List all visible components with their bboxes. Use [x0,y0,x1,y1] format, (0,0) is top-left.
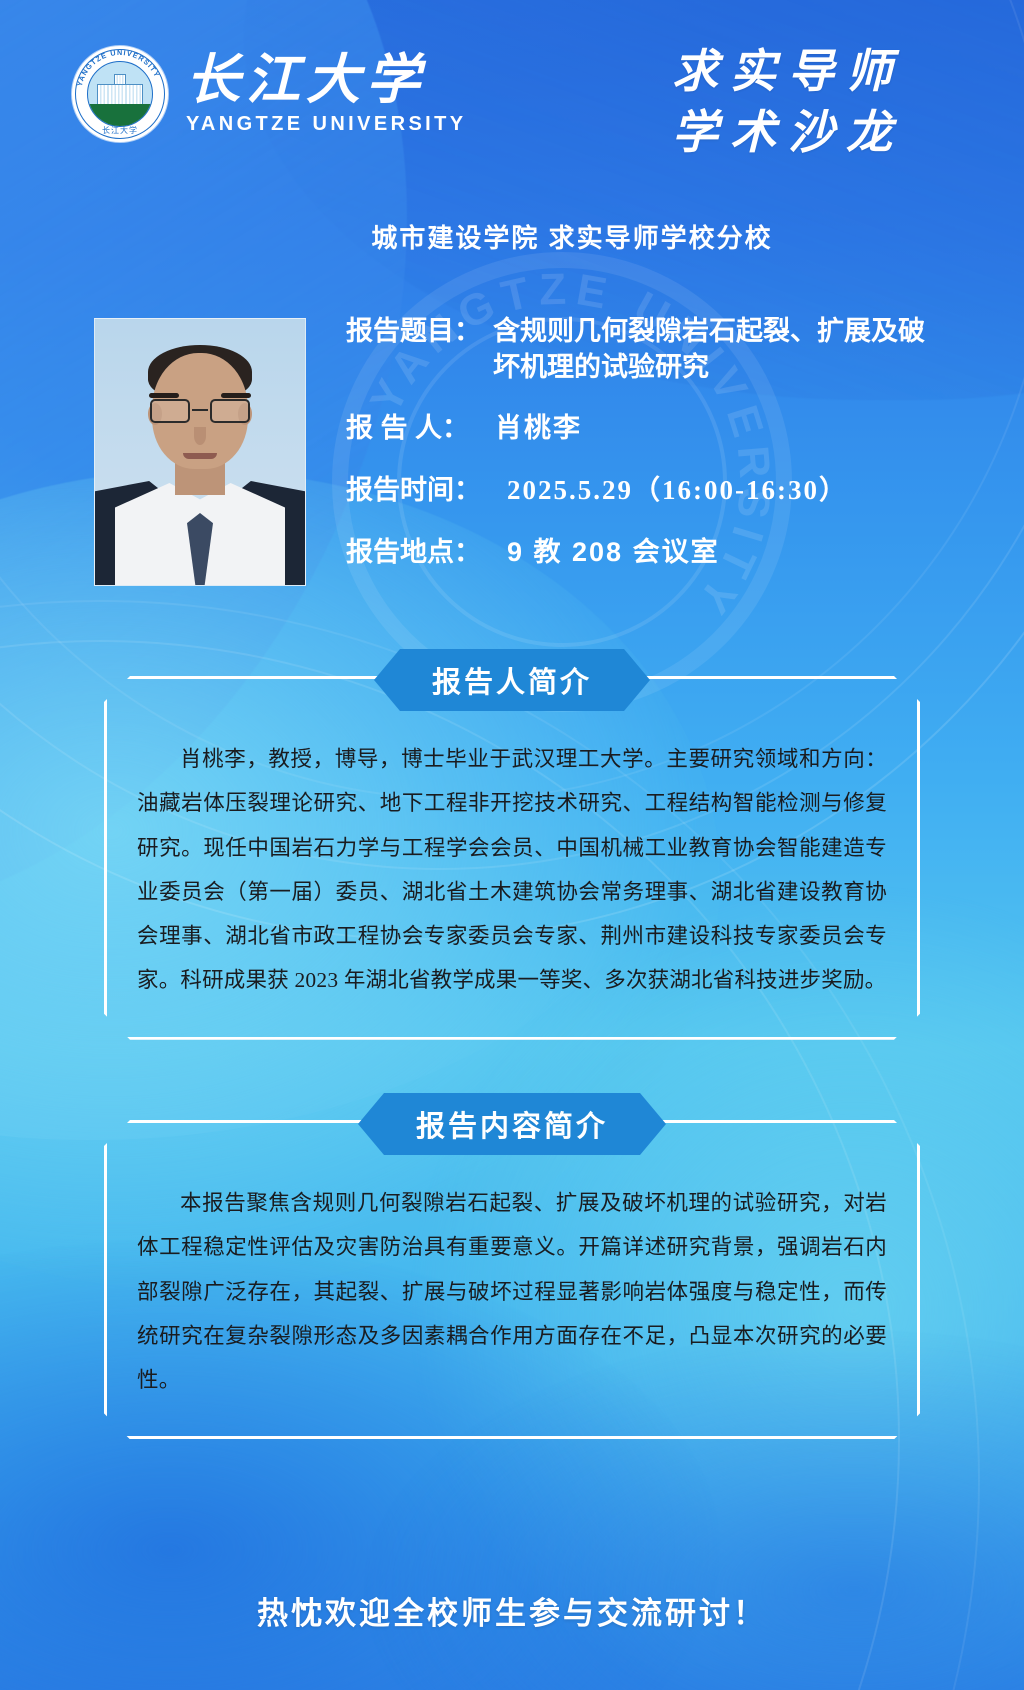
university-name-block: 长江大学 YANGTZE UNIVERSITY [186,52,467,136]
welcome-footer: 热忱欢迎全校师生参与交流研讨！ [0,1588,1024,1633]
talk-abstract-text: 本报告聚焦含规则几何裂隙岩石起裂、扩展及破坏机理的试验研究，对岩体工程稳定性评估… [137,1181,887,1402]
info-row-venue: 报告地点： 9 教 208 会议室 [346,535,946,571]
calligraphy-line-2: 学术沙龙 [672,103,904,164]
section-speaker-bio: 肖桃李，教授，博导，博士毕业于武汉理工大学。主要研究领域和方向：油藏岩体压裂理论… [104,676,920,1040]
section-frame-abstract: 本报告聚焦含规则几何裂隙岩石起裂、扩展及破坏机理的试验研究，对岩体工程稳定性评估… [104,1120,920,1439]
info-value-venue: 9 教 208 会议室 [507,535,720,571]
speaker-bio-text: 肖桃李，教授，博导，博士毕业于武汉理工大学。主要研究领域和方向：油藏岩体压裂理论… [137,737,887,1003]
section-banner-speaker-bio: 报告人简介 [374,649,650,711]
info-label-topic: 报告题目： [346,314,481,350]
portrait-brow-left [149,393,179,398]
info-label-speaker: 报 告 人： [346,411,469,447]
calligraphy-line-1: 求实导师 [672,42,904,103]
organizer-line: 城市建设学院 求实导师学校分校 [0,218,1024,255]
info-row-time: 报告时间： 2025.5.29（16:00-16:30） [346,473,946,509]
university-logo: YANGTZE UNIVERSITY 长江大学 长江大学 YANGTZE UNI… [72,46,467,142]
glasses-lens-left [150,399,190,423]
section-frame-bio: 肖桃李，教授，博导，博士毕业于武汉理工大学。主要研究领域和方向：油藏岩体压裂理论… [104,676,920,1040]
event-info-list: 报告题目： 含规则几何裂隙岩石起裂、扩展及破坏机理的试验研究 报 告 人： 肖桃… [346,314,946,570]
info-value-topic: 含规则几何裂隙岩石起裂、扩展及破坏机理的试验研究 [493,314,943,385]
poster-header: YANGTZE UNIVERSITY 长江大学 长江大学 YANGTZE UNI… [0,0,1024,200]
info-value-time: 2025.5.29（16:00-16:30） [507,473,848,509]
university-crest-icon: YANGTZE UNIVERSITY 长江大学 [72,46,168,142]
section-banner-talk-abstract: 报告内容简介 [358,1093,666,1155]
portrait-glasses-icon [148,399,252,425]
info-row-speaker: 报 告 人： 肖桃李 [346,411,946,447]
svg-text:YANGTZE UNIVERSITY: YANGTZE UNIVERSITY [75,48,162,87]
speaker-portrait [94,318,306,586]
portrait-nose [194,427,206,445]
section-talk-abstract: 本报告聚焦含规则几何裂隙岩石起裂、扩展及破坏机理的试验研究，对岩体工程稳定性评估… [104,1120,920,1439]
crest-ring-text-cn: 长江大学 [72,125,168,136]
info-value-speaker: 肖桃李 [495,411,582,447]
portrait-brow-right [221,393,251,398]
event-brand-calligraphy: 求实导师 学术沙龙 [672,42,904,163]
glasses-bridge [192,409,208,411]
glasses-lens-right [210,399,250,423]
info-label-venue: 报告地点： [346,535,481,571]
university-name-cn: 长江大学 [186,52,467,109]
info-row-topic: 报告题目： 含规则几何裂隙岩石起裂、扩展及破坏机理的试验研究 [346,314,946,385]
info-label-time: 报告时间： [346,473,481,509]
portrait-mouth [183,453,217,459]
university-name-en: YANGTZE UNIVERSITY [186,113,467,136]
